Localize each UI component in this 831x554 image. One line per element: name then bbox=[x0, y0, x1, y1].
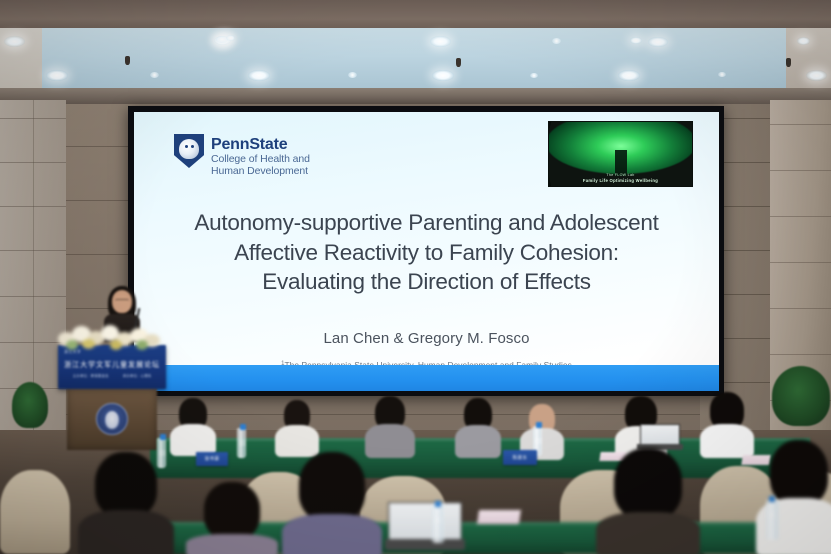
paper-stack bbox=[477, 510, 521, 524]
water-bottle bbox=[237, 428, 246, 458]
downlight-small bbox=[150, 72, 159, 78]
ceiling-fitting bbox=[786, 58, 791, 67]
person-body bbox=[596, 512, 700, 554]
water-bottle bbox=[766, 500, 779, 540]
slide-title-line1: Autonomy-supportive Parenting and Adoles… bbox=[164, 208, 689, 238]
audience-member bbox=[78, 452, 174, 554]
downlight bbox=[806, 70, 827, 81]
pennstate-college-line2: Human Development bbox=[211, 166, 310, 178]
university-emblem-icon bbox=[96, 403, 128, 435]
podium-base bbox=[67, 389, 157, 450]
presentation-slide: PennState College of Health and Human De… bbox=[134, 112, 719, 391]
laptop bbox=[640, 424, 680, 450]
placard-text: 陈建东 bbox=[513, 455, 528, 461]
chair bbox=[0, 470, 70, 554]
person-head bbox=[299, 452, 365, 522]
person-body bbox=[186, 534, 278, 554]
placard-text: 张书豪 bbox=[205, 456, 220, 462]
lab-caption-line2: Family Life Optimizing Wellbeing bbox=[549, 178, 692, 183]
name-placard: 陈建东 bbox=[503, 450, 537, 465]
laptop-screen bbox=[388, 502, 462, 539]
podium: 浙江大学 浙江大学文军儿童发展论坛 主办单位：教育基金会 承办单位：心理系 bbox=[58, 345, 166, 450]
plant bbox=[772, 366, 830, 426]
ceiling-fitting bbox=[125, 56, 130, 65]
audience-member bbox=[365, 396, 415, 456]
water-bottle bbox=[432, 505, 444, 543]
slide-accent-band bbox=[134, 365, 719, 391]
person-body bbox=[700, 424, 754, 458]
downlight bbox=[618, 70, 640, 81]
lab-caption: The FLOW Lab Family Life Optimizing Well… bbox=[549, 173, 692, 183]
downlight bbox=[4, 36, 25, 47]
person-head bbox=[770, 440, 828, 506]
ceiling-fitting bbox=[456, 58, 461, 67]
pennstate-wordmark: PennState bbox=[211, 136, 310, 154]
downlight-small bbox=[718, 72, 726, 77]
downlight-small bbox=[348, 72, 357, 78]
downlight bbox=[46, 70, 68, 81]
person-body bbox=[455, 425, 501, 458]
downlight bbox=[648, 37, 668, 47]
downlight-small bbox=[226, 35, 235, 41]
tree-trunk bbox=[615, 150, 627, 176]
downlight-small bbox=[530, 73, 538, 78]
laptop-screen bbox=[640, 424, 680, 444]
downlight bbox=[797, 37, 810, 45]
downlight bbox=[430, 36, 451, 47]
podium-banner-subtitles: 主办单位：教育基金会 承办单位：心理系 bbox=[58, 374, 166, 379]
audience-member bbox=[455, 398, 501, 456]
downlight bbox=[432, 70, 454, 81]
speaker-glasses bbox=[115, 299, 129, 303]
slide-authors: Lan Chen & Gregory M. Fosco bbox=[134, 330, 719, 347]
downlight bbox=[630, 37, 642, 44]
audience-member bbox=[186, 482, 278, 554]
slide-title: Autonomy-supportive Parenting and Adoles… bbox=[134, 208, 719, 297]
plant bbox=[12, 382, 48, 428]
ceiling-right-block bbox=[786, 28, 831, 90]
pennstate-logo: PennState College of Health and Human De… bbox=[174, 134, 310, 177]
podium-sub-right: 承办单位：心理系 bbox=[123, 374, 152, 379]
podium-sub-left: 主办单位：教育基金会 bbox=[73, 374, 109, 379]
person-head bbox=[95, 452, 157, 518]
pennstate-shield-icon bbox=[174, 134, 204, 168]
audience-member bbox=[282, 452, 382, 554]
person-head bbox=[614, 448, 682, 520]
speaker-face bbox=[114, 294, 130, 313]
downlight-small bbox=[552, 38, 561, 44]
conference-room-photo: PennState College of Health and Human De… bbox=[0, 0, 831, 554]
name-placard: 张书豪 bbox=[196, 452, 228, 466]
laptop bbox=[388, 502, 462, 550]
pennstate-college-line1: College of Health and bbox=[211, 154, 310, 166]
person-body bbox=[282, 514, 382, 554]
audience-member bbox=[700, 392, 754, 456]
downlight bbox=[248, 70, 270, 81]
slide-title-line3: Evaluating the Direction of Effects bbox=[164, 267, 689, 297]
person-body bbox=[78, 510, 174, 554]
audience-member bbox=[170, 398, 216, 454]
projection-screen: PennState College of Health and Human De… bbox=[128, 106, 724, 396]
slide-title-line2: Affective Reactivity to Family Cohesion: bbox=[164, 238, 689, 268]
audience-member bbox=[596, 448, 700, 554]
lab-tree-image: The FLOW Lab Family Life Optimizing Well… bbox=[548, 121, 693, 187]
podium-banner-title: 浙江大学文军儿童发展论坛 bbox=[58, 360, 166, 370]
audience-member bbox=[275, 400, 319, 454]
person-head bbox=[204, 482, 260, 540]
laptop-base bbox=[385, 539, 465, 550]
podium-flowers bbox=[52, 322, 170, 352]
